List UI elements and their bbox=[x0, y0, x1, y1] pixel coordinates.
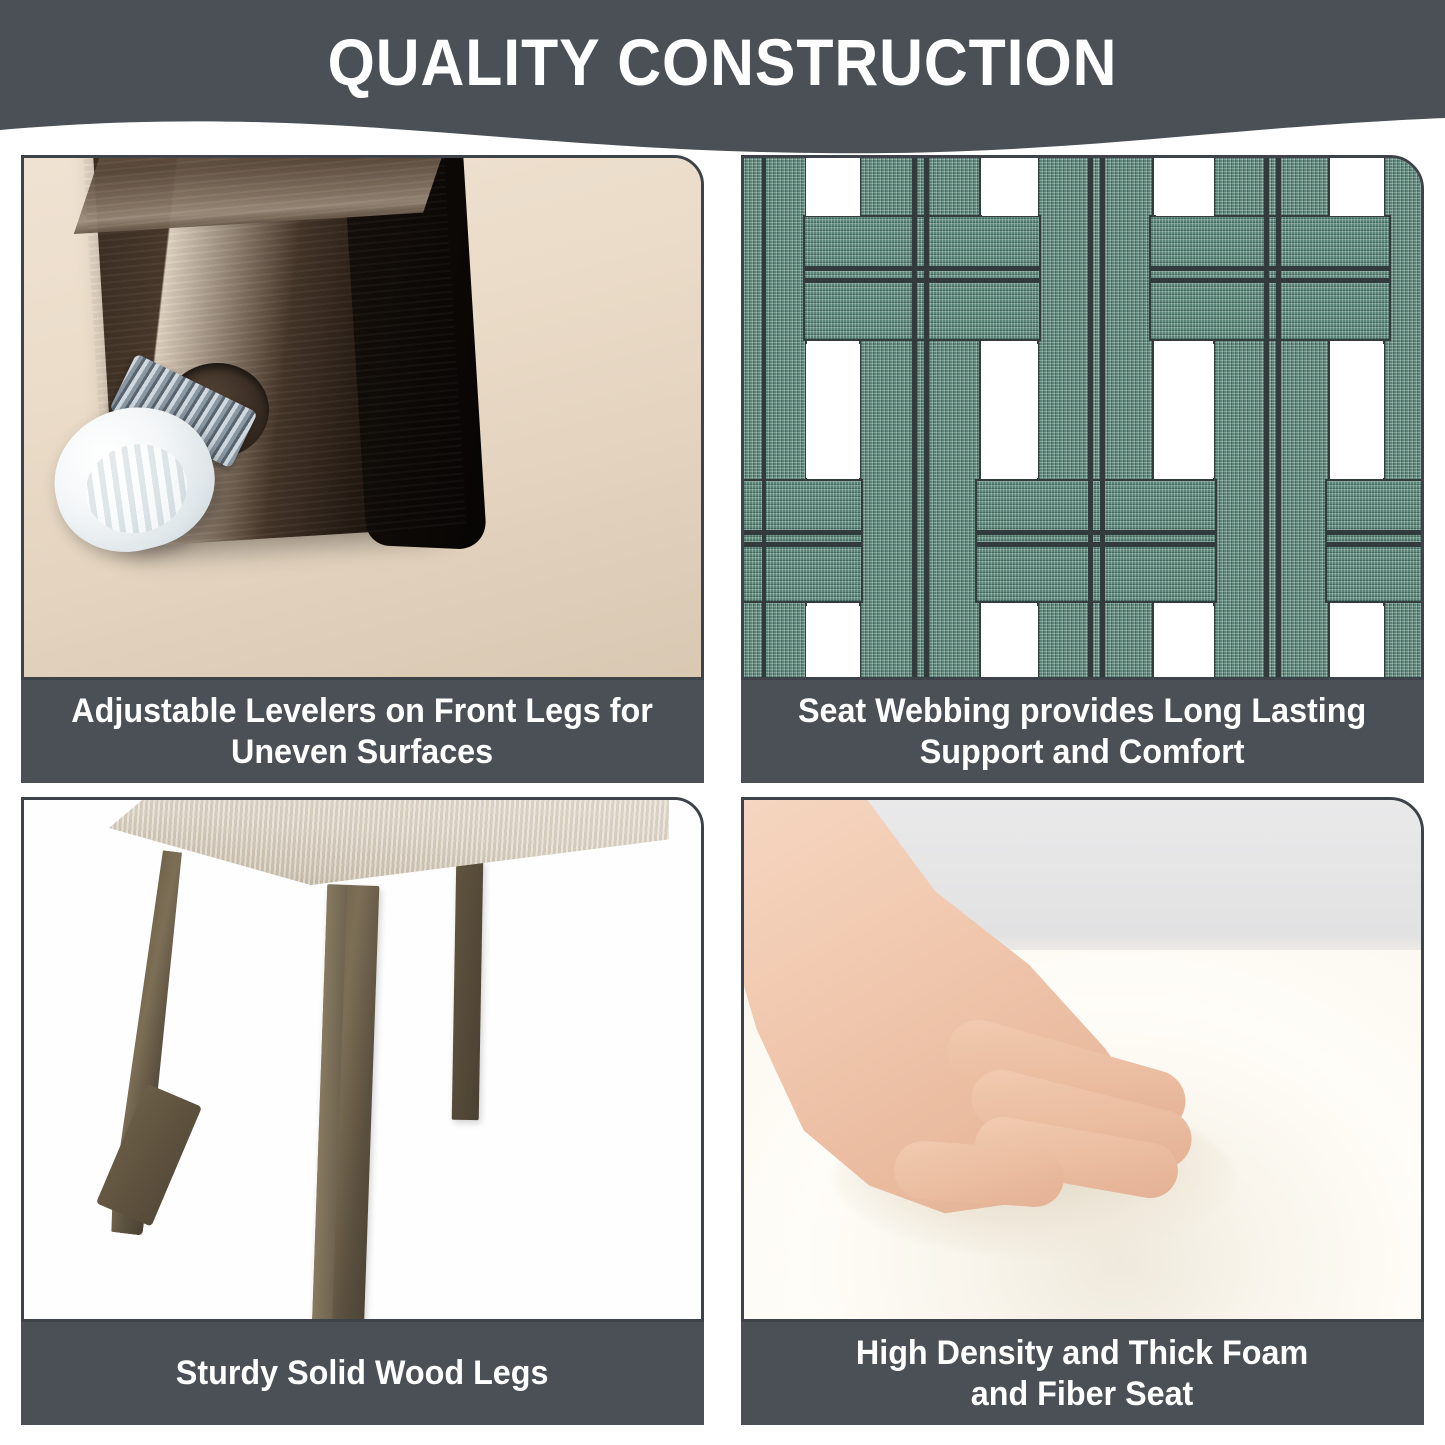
feature-card-adjustable-levelers: Close-up of a dark brown wooden chair le… bbox=[21, 155, 704, 783]
webbing-pinstripe bbox=[924, 155, 929, 680]
leveler-photo: Close-up of a dark brown wooden chair le… bbox=[21, 155, 704, 680]
caption-line-2: Uneven Surfaces bbox=[72, 732, 654, 773]
webbing-gap bbox=[982, 606, 1038, 680]
caption-line-1: Seat Webbing provides Long Lasting bbox=[798, 691, 1366, 732]
webbing-photo: Green interwoven elastic seat webbing st… bbox=[741, 155, 1424, 680]
webbing-pinstripe bbox=[1276, 155, 1281, 680]
webbing-pinstripe bbox=[1088, 155, 1093, 680]
feature-card-high-density-foam: A hand pressing down into thick cream co… bbox=[741, 797, 1424, 1425]
webbing-pinstripe bbox=[1326, 530, 1424, 535]
caption-line-1: Sturdy Solid Wood Legs bbox=[176, 1353, 549, 1394]
webbing-pinstripe bbox=[976, 530, 1216, 535]
header-banner: QUALITY CONSTRUCTION bbox=[0, 0, 1445, 165]
webbing-gap bbox=[982, 344, 1038, 478]
caption-line-1: Adjustable Levelers on Front Legs for bbox=[72, 691, 654, 732]
chair-leg-rear bbox=[452, 860, 484, 1120]
webbing-gap bbox=[806, 155, 860, 216]
leveler-scene bbox=[24, 158, 701, 677]
webbing-gap bbox=[1330, 344, 1384, 478]
finger-thumb bbox=[892, 1139, 1066, 1209]
feature-card-solid-wood-legs: Beige upholstered chair seat supported b… bbox=[21, 797, 704, 1425]
webbing-pinstripe bbox=[762, 155, 766, 680]
webbing-pinstripe bbox=[804, 266, 1040, 271]
webbing-pinstripe bbox=[1150, 278, 1390, 283]
foam-photo: A hand pressing down into thick cream co… bbox=[741, 797, 1424, 1322]
page-title: QUALITY CONSTRUCTION bbox=[58, 24, 1387, 100]
webbing-weave bbox=[744, 158, 1421, 677]
webbing-gap bbox=[1330, 155, 1384, 216]
webbing-pinstripe bbox=[804, 278, 1040, 283]
webbing-gap bbox=[1156, 155, 1214, 216]
webbing-strap-horizontal bbox=[1326, 480, 1424, 602]
caption-seat-webbing: Seat Webbing provides Long Lasting Suppo… bbox=[741, 680, 1424, 783]
webbing-pinstripe bbox=[1150, 266, 1390, 271]
caption-line-2: and Fiber Seat bbox=[856, 1374, 1308, 1415]
caption-line-2: Support and Comfort bbox=[798, 732, 1366, 773]
webbing-strap-horizontal bbox=[741, 480, 862, 602]
webbing-gap bbox=[1156, 606, 1214, 680]
feature-card-seat-webbing: Green interwoven elastic seat webbing st… bbox=[741, 155, 1424, 783]
webbing-gap bbox=[982, 155, 1038, 216]
webbing-pinstripe bbox=[1326, 542, 1424, 547]
webbing-pinstripe bbox=[741, 542, 862, 547]
caption-solid-wood-legs: Sturdy Solid Wood Legs bbox=[21, 1322, 704, 1425]
wood-legs-scene bbox=[24, 800, 701, 1319]
wood-legs-photo: Beige upholstered chair seat supported b… bbox=[21, 797, 704, 1322]
webbing-pinstripe bbox=[741, 530, 862, 535]
webbing-gap bbox=[1330, 606, 1384, 680]
caption-line-1: High Density and Thick Foam bbox=[856, 1333, 1308, 1374]
webbing-pinstripe bbox=[976, 542, 1216, 547]
infographic-page: QUALITY CONSTRUCTION Close-up of a dark … bbox=[0, 0, 1445, 1445]
webbing-strap-horizontal bbox=[976, 480, 1216, 602]
feature-grid: Close-up of a dark brown wooden chair le… bbox=[21, 155, 1424, 1425]
webbing-pinstripe bbox=[912, 155, 917, 680]
caption-high-density-foam: High Density and Thick Foam and Fiber Se… bbox=[741, 1322, 1424, 1425]
seat-fabric-texture bbox=[109, 797, 669, 885]
webbing-gap bbox=[806, 344, 860, 478]
chair-leg-left-flare bbox=[96, 1083, 202, 1226]
foam-scene bbox=[744, 800, 1421, 1319]
webbing-pinstripe bbox=[1100, 155, 1105, 680]
webbing-pinstripe bbox=[1264, 155, 1269, 680]
webbing-gap bbox=[1156, 344, 1214, 478]
caption-adjustable-levelers: Adjustable Levelers on Front Legs for Un… bbox=[21, 680, 704, 783]
webbing-gap bbox=[806, 606, 860, 680]
